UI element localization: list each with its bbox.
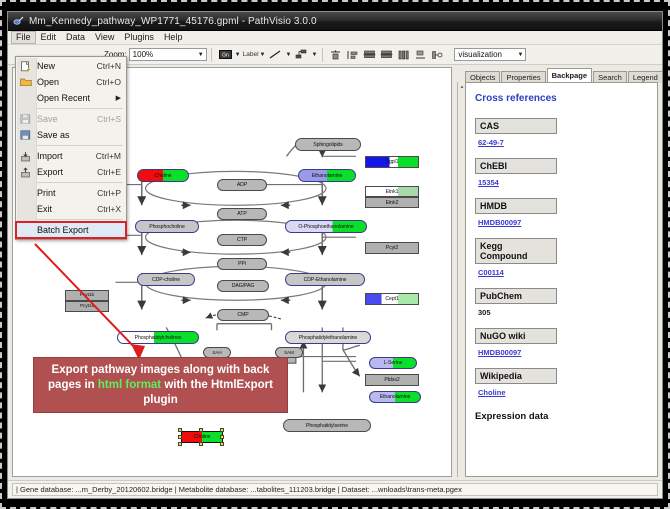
node-choline[interactable]: Choline — [137, 169, 189, 182]
menu-edit[interactable]: Edit — [36, 31, 62, 44]
xref-value[interactable]: C00114 — [475, 268, 649, 277]
chevron-down-icon[interactable]: ▼ — [235, 52, 241, 58]
menu-item-accelerator: Ctrl+M — [96, 151, 126, 161]
menu-item-accelerator: Ctrl+N — [97, 61, 126, 71]
node-dag-pag[interactable]: DAG/PAG — [217, 280, 269, 292]
node-ppi[interactable]: PPi — [217, 258, 267, 270]
menu-separator — [37, 219, 123, 220]
zoom-value: 100% — [133, 50, 153, 59]
side-dock: Objects Properties Backpage Search Legen… — [457, 67, 658, 477]
menu-item-accelerator: Ctrl+E — [97, 167, 126, 177]
callout-text-after: with the HtmlExport plugin — [143, 379, 273, 406]
size-common-icon[interactable] — [413, 47, 428, 62]
gene-ptdss2[interactable]: Ptdss2 — [365, 374, 419, 386]
align-top-icon[interactable] — [328, 47, 343, 62]
selection-handle[interactable] — [220, 435, 224, 439]
xref-cas: CAS 62-49-7 — [475, 118, 649, 147]
xref-source-label: ChEBI — [475, 158, 557, 174]
menu-item-label: Exit — [37, 204, 97, 214]
node-o-phosphoethanolamine[interactable]: O-Phosphoethanolamine — [285, 220, 367, 233]
menu-item-open[interactable]: Open Ctrl+O — [16, 74, 126, 90]
node-l-serine[interactable]: L-Serine — [369, 357, 417, 369]
file-menu-dropdown[interactable]: New Ctrl+N Open Ctrl+O Open Recent ▶ Sav… — [15, 56, 127, 240]
callout-text-highlight: html format — [98, 379, 161, 391]
datanode-tool-icon[interactable]: Gn — [218, 47, 233, 62]
toolbar-divider — [322, 48, 323, 62]
menu-item-label: New — [37, 61, 97, 71]
chevron-down-icon: ▼ — [517, 52, 523, 58]
group-icon[interactable] — [430, 47, 445, 62]
node-atp[interactable]: ATP — [217, 208, 267, 220]
pathvisio-app-icon — [13, 16, 24, 27]
datanode-tool[interactable]: Gn ▼ — [217, 47, 241, 62]
xref-source-label: Wikipedia — [475, 368, 557, 384]
new-document-icon — [19, 60, 32, 72]
menu-item-accelerator: Ctrl+S — [97, 114, 126, 124]
tab-backpage[interactable]: Backpage — [547, 68, 592, 82]
align-left-icon[interactable] — [345, 47, 360, 62]
menu-file[interactable]: File — [11, 31, 36, 44]
annotation-callout: Export pathway images along with back pa… — [33, 357, 288, 413]
menu-item-label: Batch Export — [37, 225, 126, 235]
chevron-down-icon[interactable]: ▼ — [260, 52, 266, 58]
menu-item-label: Import — [37, 151, 96, 161]
backpage-panel: Cross references CAS 62-49-7 ChEBI 15354… — [465, 82, 658, 477]
zoom-combobox[interactable]: 100% ▼ — [129, 48, 207, 61]
node-sphingolipids[interactable]: Sphingolipids — [295, 138, 361, 151]
menu-item-save: Save Ctrl+S — [16, 111, 126, 127]
svg-text:Gn: Gn — [222, 53, 229, 59]
xref-source-label: Kegg Compound — [475, 238, 557, 264]
menu-item-print[interactable]: Print Ctrl+P — [16, 185, 126, 201]
xref-source-label: PubChem — [475, 288, 557, 304]
menu-item-label: Export — [37, 167, 97, 177]
menu-help[interactable]: Help — [159, 31, 188, 44]
menubar: File Edit Data View Plugins Help — [8, 31, 662, 45]
xref-chebi: ChEBI 15354 — [475, 158, 649, 187]
menu-item-accelerator: Ctrl+O — [96, 77, 126, 87]
xref-value[interactable]: 62-49-7 — [475, 138, 649, 147]
menu-item-open-recent[interactable]: Open Recent ▶ — [16, 90, 126, 106]
statusbar: | Gene database: ...m_Derby_20120602.bri… — [8, 480, 662, 498]
menu-item-import[interactable]: Import Ctrl+M — [16, 148, 126, 164]
selection-handle[interactable] — [178, 442, 182, 446]
node-cmp[interactable]: CMP — [217, 309, 269, 321]
node-ethanolamine[interactable]: Ethanolamine — [298, 169, 356, 182]
window-title: Mm_Kennedy_pathway_WP1771_45176.gpml - P… — [29, 16, 317, 27]
expression-data-heading: Expression data — [475, 411, 649, 422]
menu-data[interactable]: Data — [61, 31, 90, 44]
gene-pcyt1a[interactable]: Pcyt1a — [65, 301, 109, 312]
xref-value[interactable]: HMDB00097 — [475, 218, 649, 227]
save-disk-icon — [19, 113, 32, 125]
menu-item-label: Open — [37, 77, 96, 87]
xref-source-label: HMDB — [475, 198, 557, 214]
menu-item-label: Save as — [37, 130, 121, 140]
toolbar-divider — [211, 48, 212, 62]
menu-item-label: Save — [37, 114, 97, 124]
xref-value[interactable]: 15354 — [475, 178, 649, 187]
menu-item-exit[interactable]: Exit Ctrl+X — [16, 201, 126, 217]
menu-item-accelerator: Ctrl+X — [97, 204, 126, 214]
xref-link[interactable]: HMDB00097 — [478, 348, 521, 357]
node-ethanolamine-2[interactable]: Ethanolamine — [369, 391, 421, 403]
xref-value: 305 — [475, 308, 649, 317]
xref-source-label: CAS — [475, 118, 557, 134]
xref-value[interactable]: Choline — [475, 388, 649, 397]
xref-link[interactable]: Choline — [478, 388, 506, 397]
node-ctp[interactable]: CTP — [217, 234, 267, 246]
visualization-value: visualization — [458, 50, 502, 59]
align-stack-icon[interactable] — [362, 47, 377, 62]
dock-scrollbar[interactable]: ▴ — [457, 82, 465, 477]
menu-item-batch-export[interactable]: Batch Export — [16, 222, 126, 238]
menu-item-new[interactable]: New Ctrl+N — [16, 58, 126, 74]
selection-handle[interactable] — [220, 442, 224, 446]
submenu-arrow-icon: ▶ — [116, 94, 126, 102]
gene-pcyt1b[interactable]: Pcyt1b — [65, 290, 109, 301]
menu-item-save-as[interactable]: Save as — [16, 127, 126, 143]
import-icon — [19, 150, 32, 162]
line-tool-icon[interactable] — [268, 47, 283, 62]
menu-view[interactable]: View — [90, 31, 119, 44]
export-icon — [19, 166, 32, 178]
label-tool[interactable]: Label ▼ — [243, 51, 266, 58]
menu-separator — [37, 145, 123, 146]
gene-etnk2[interactable]: Etnk2 — [365, 197, 419, 208]
menu-separator — [37, 182, 123, 183]
xref-link[interactable]: 62-49-7 — [478, 138, 504, 147]
menu-separator — [37, 108, 123, 109]
selection-handle[interactable] — [199, 442, 203, 446]
pathvisio-application-window: Mm_Kennedy_pathway_WP1771_45176.gpml - P… — [7, 11, 663, 499]
chevron-down-icon[interactable]: ▼ — [311, 52, 317, 58]
xref-nugo-wiki: NuGO wiki HMDB00097 — [475, 328, 649, 357]
xref-value[interactable]: HMDB00097 — [475, 348, 649, 357]
menu-item-label: Print — [37, 188, 97, 198]
menu-plugins[interactable]: Plugins — [119, 31, 159, 44]
selection-handle[interactable] — [178, 435, 182, 439]
xref-hmdb: HMDB HMDB00097 — [475, 198, 649, 227]
chevron-down-icon: ▼ — [198, 52, 204, 58]
label-tool-label: Label — [243, 51, 259, 58]
node-adp[interactable]: ADP — [217, 179, 267, 191]
menu-item-label: Open Recent — [37, 93, 116, 103]
distribute-horizontal-icon[interactable] — [379, 47, 394, 62]
xref-kegg-compound: Kegg Compound C00114 — [475, 238, 649, 277]
save-as-icon — [19, 129, 32, 141]
dock-tabstrip: Objects Properties Backpage Search Legen… — [465, 68, 658, 82]
gene-sgpl1[interactable]: Sgpl1 — [365, 156, 419, 168]
xref-link[interactable]: C00114 — [478, 268, 504, 277]
xref-pubchem: PubChem 305 — [475, 288, 649, 317]
chevron-down-icon[interactable]: ▼ — [285, 52, 291, 58]
statusbar-text: | Gene database: ...m_Derby_20120602.bri… — [12, 483, 658, 496]
gene-etnk1[interactable]: Etnk1 — [365, 186, 419, 197]
node-phosphatidylethanolamine[interactable]: Phosphatidylethanolamine — [285, 331, 371, 344]
menu-item-accelerator: Ctrl+P — [97, 188, 126, 198]
visualization-combobox[interactable]: visualization ▼ — [454, 48, 526, 61]
xref-link[interactable]: HMDB00097 — [478, 218, 521, 227]
xref-source-label: NuGO wiki — [475, 328, 557, 344]
distribute-vertical-icon[interactable] — [396, 47, 411, 62]
node-cdp-ethanolamine[interactable]: CDP-Ethanolamine — [285, 273, 365, 286]
open-folder-icon — [19, 76, 32, 88]
xref-wikipedia: Wikipedia Choline — [475, 368, 649, 397]
xref-link[interactable]: 15354 — [478, 178, 499, 187]
node-cdp-choline[interactable]: CDP-choline — [137, 273, 195, 286]
selection-handle[interactable] — [220, 428, 224, 432]
gene-cept1[interactable]: Cept1 — [365, 293, 419, 305]
node-phosphatidylserine[interactable]: Phosphatidylserine — [283, 419, 371, 432]
line-tool[interactable]: ▼ — [267, 47, 291, 62]
menu-item-export[interactable]: Export Ctrl+E — [16, 164, 126, 180]
selection-handle[interactable] — [178, 428, 182, 432]
node-phosphocholine[interactable]: Phosphocholine — [135, 220, 199, 233]
gene-pcyt2[interactable]: Pcyt2 — [365, 242, 419, 254]
window-titlebar: Mm_Kennedy_pathway_WP1771_45176.gpml - P… — [8, 12, 662, 31]
node-phosphatidylcholines[interactable]: Phosphatidylcholines — [117, 331, 199, 344]
selection-handle[interactable] — [199, 428, 203, 432]
cross-references-heading: Cross references — [475, 93, 649, 104]
interaction-tool-icon[interactable] — [294, 47, 309, 62]
interaction-tool[interactable]: ▼ — [293, 47, 317, 62]
